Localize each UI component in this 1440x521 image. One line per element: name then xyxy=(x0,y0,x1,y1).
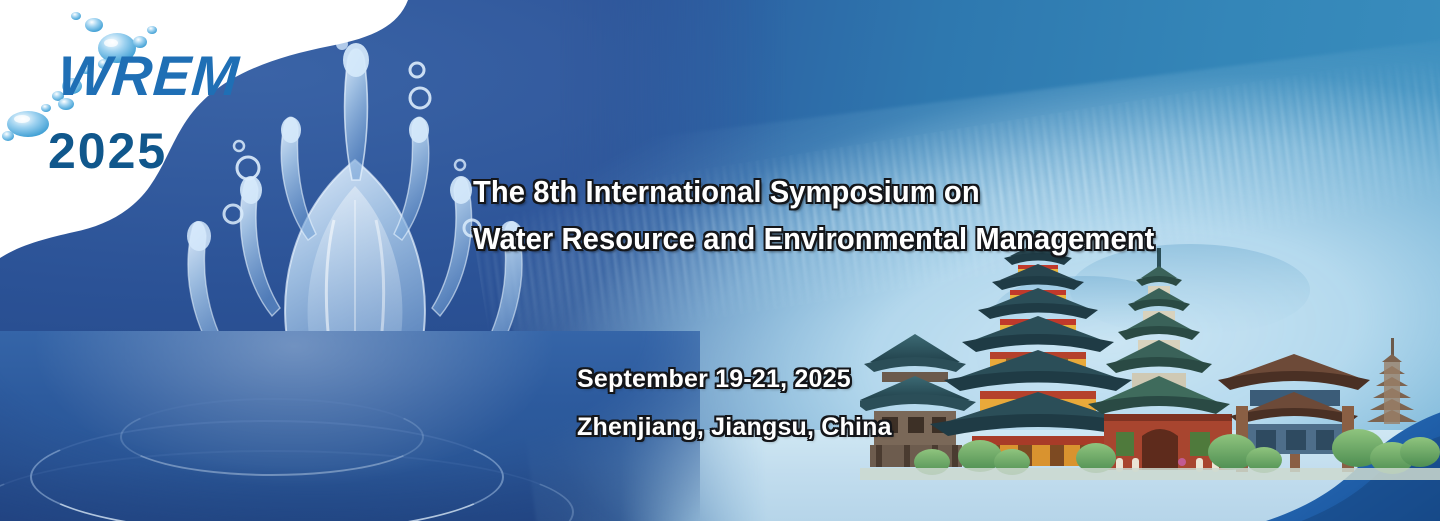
ripple-ring xyxy=(120,398,424,476)
conference-banner: WREM 2025 The 8th International Symposiu… xyxy=(0,0,1440,521)
title-line-1: The 8th International Symposium on xyxy=(473,168,1187,215)
logo-acronym: WREM xyxy=(56,48,241,104)
event-details: September 19-21, 2025 Zhenjiang, Jiangsu… xyxy=(573,362,896,444)
symposium-title: The 8th International Symposium on Water… xyxy=(473,168,1233,262)
event-dates: September 19-21, 2025 xyxy=(573,362,855,396)
logo: WREM 2025 xyxy=(0,0,330,200)
corner-wave-shape xyxy=(1240,381,1440,521)
event-dates-text: September 19-21, 2025 xyxy=(577,365,851,393)
event-location-text: Zhenjiang, Jiangsu, China xyxy=(577,413,892,441)
event-location: Zhenjiang, Jiangsu, China xyxy=(573,410,896,444)
title-line-2: Water Resource and Environmental Managem… xyxy=(473,215,1187,262)
logo-year: 2025 xyxy=(48,126,167,176)
